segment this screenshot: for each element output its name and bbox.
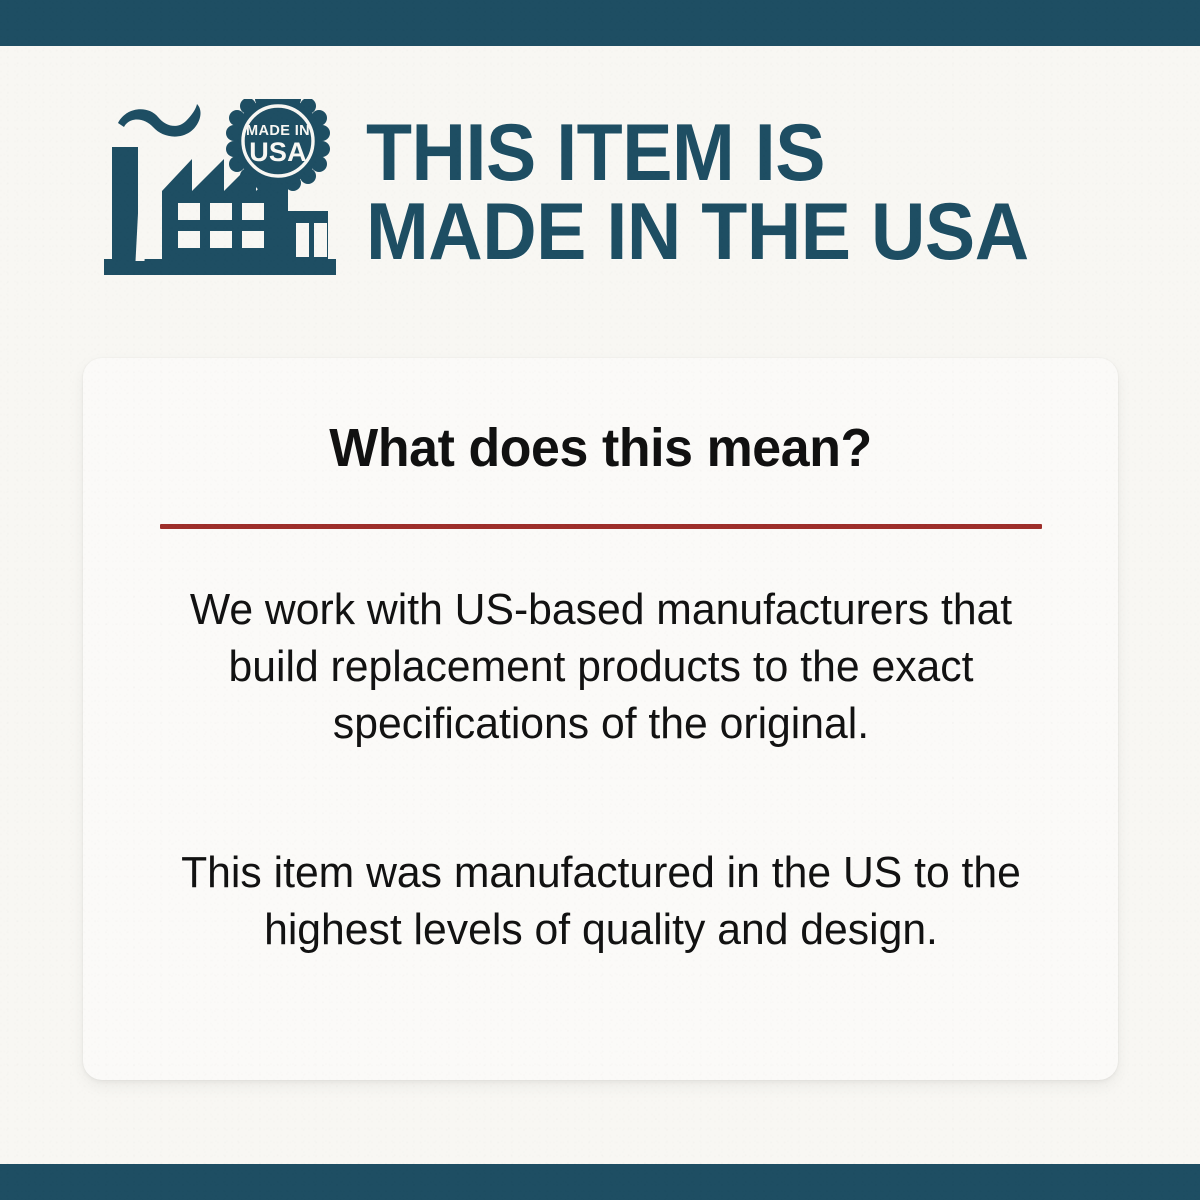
badge-usa-text: USA: [249, 137, 307, 167]
card-paragraph-2: This item was manufactured in the US to …: [174, 844, 1028, 958]
page-root: MADE IN USA THIS ITEM IS MADE IN THE USA…: [0, 0, 1200, 1200]
red-divider-rule: [160, 524, 1042, 529]
explanation-card-content: What does this mean? We work with US-bas…: [83, 358, 1118, 1080]
card-paragraph-1: We work with US-based manufacturers that…: [174, 581, 1028, 753]
explanation-card: What does this mean? We work with US-bas…: [83, 358, 1118, 1080]
made-in-usa-badge-icon: MADE IN USA: [226, 99, 330, 193]
header-title-block: THIS ITEM IS MADE IN THE USA: [366, 110, 1150, 273]
header-title-line-1: THIS ITEM IS: [366, 114, 1095, 193]
top-accent-band: [0, 0, 1200, 46]
made-in-usa-logo: MADE IN USA: [100, 99, 340, 284]
card-heading: What does this mean?: [329, 420, 871, 477]
bottom-accent-band: [0, 1164, 1200, 1200]
header-title-line-2: MADE IN THE USA: [366, 193, 1095, 272]
header: MADE IN USA THIS ITEM IS MADE IN THE USA: [100, 96, 1150, 286]
factory-icon: MADE IN USA: [100, 99, 340, 284]
